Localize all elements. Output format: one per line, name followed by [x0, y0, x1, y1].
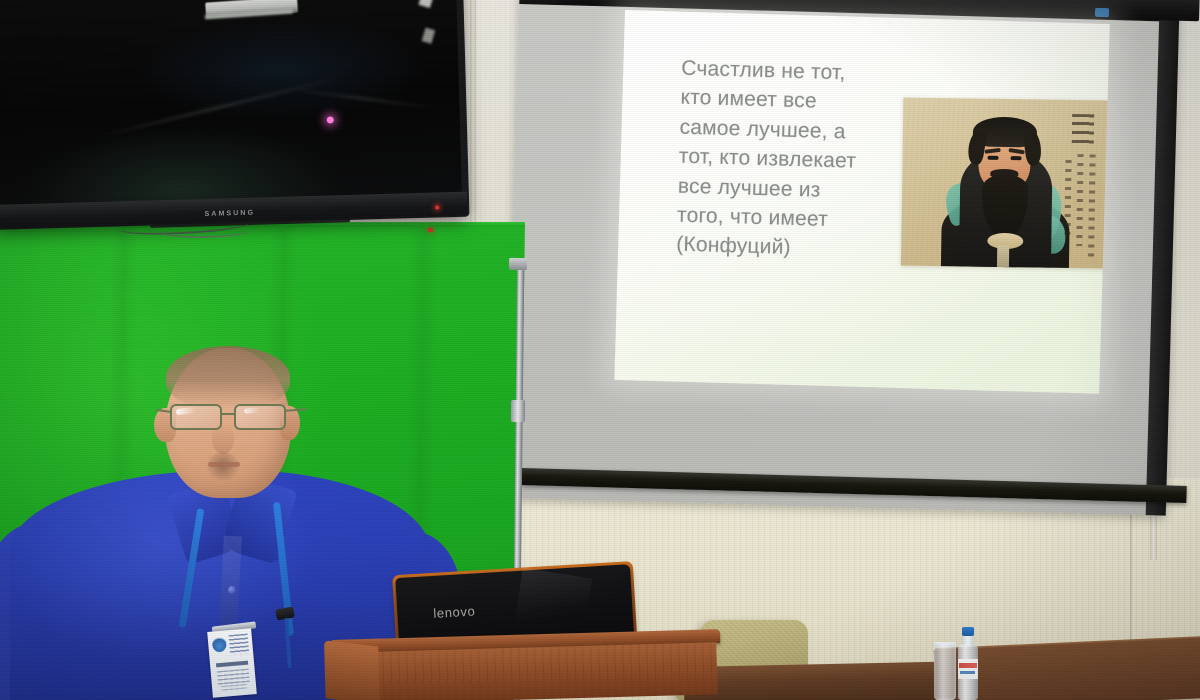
tv-pink-light-dot [327, 116, 334, 123]
projection-screen-roller-tab [1095, 8, 1109, 17]
portrait-eye-right [1011, 156, 1022, 160]
eyeglass-lens-right [234, 404, 286, 430]
eyeglass-temple-right [286, 408, 306, 411]
tv-screen [0, 0, 462, 206]
badge-logo-icon [212, 636, 227, 652]
badge-name-text [216, 661, 248, 668]
presenter-mouth [208, 462, 240, 467]
podium [330, 629, 722, 700]
tv-edge-glare-1 [418, 0, 434, 8]
wall-mounted-tv[interactable]: SAMSUNG [0, 0, 467, 228]
drinking-glass[interactable] [934, 643, 956, 700]
tv-power-led-icon [435, 205, 439, 209]
portrait-calligraphy-column-3 [1064, 160, 1071, 240]
portrait-tablet [997, 245, 1009, 269]
tv-reflection-streak-2 [294, 89, 433, 109]
conference-badge [207, 628, 257, 698]
slide-quote-attribution: (Конфуций) [676, 230, 892, 266]
water-bottle-cap [962, 627, 974, 636]
tv-reflection-streak-1 [97, 77, 340, 138]
water-bottle-neck [963, 635, 973, 646]
wall-seam-center [470, 0, 476, 240]
tv-edge-glare-2 [422, 28, 436, 44]
podium-front-panel [334, 642, 717, 700]
water-bottle-label-accent [959, 663, 977, 668]
green-screen-pole-clamp [511, 400, 525, 422]
badge-subtitle-text [217, 669, 250, 686]
confucius-portrait-image [901, 97, 1108, 268]
eyeglass-bridge [222, 413, 236, 415]
projected-slide: Счастлив не тот, кто имеет все самое луч… [614, 10, 1109, 394]
portrait-calligraphy-title [1072, 114, 1095, 148]
portrait-eye-left [988, 156, 999, 160]
water-bottle[interactable] [957, 627, 979, 700]
conference-photo: Счастлив не тот, кто имеет все самое луч… [0, 0, 1200, 700]
water-bottle-label-stripe [960, 671, 975, 674]
badge-header-text [229, 634, 250, 656]
presenter-hair [166, 346, 290, 408]
shirt-button-1 [228, 586, 236, 594]
water-bottle-label [958, 659, 978, 679]
green-screen-pole-cap [509, 258, 527, 270]
slide-quote-text: Счастлив не тот, кто имеет все самое луч… [676, 54, 897, 266]
tv-brand-logo: SAMSUNG [205, 210, 256, 218]
tv-standby-led-lower [428, 228, 433, 232]
podium-left-edge [324, 640, 380, 700]
laptop-brand-logo: lenovo [433, 603, 476, 620]
eyeglasses-icon [156, 402, 304, 432]
table-front [684, 661, 975, 700]
badge-footer-text [221, 684, 247, 692]
presenter-goatee [206, 452, 240, 482]
